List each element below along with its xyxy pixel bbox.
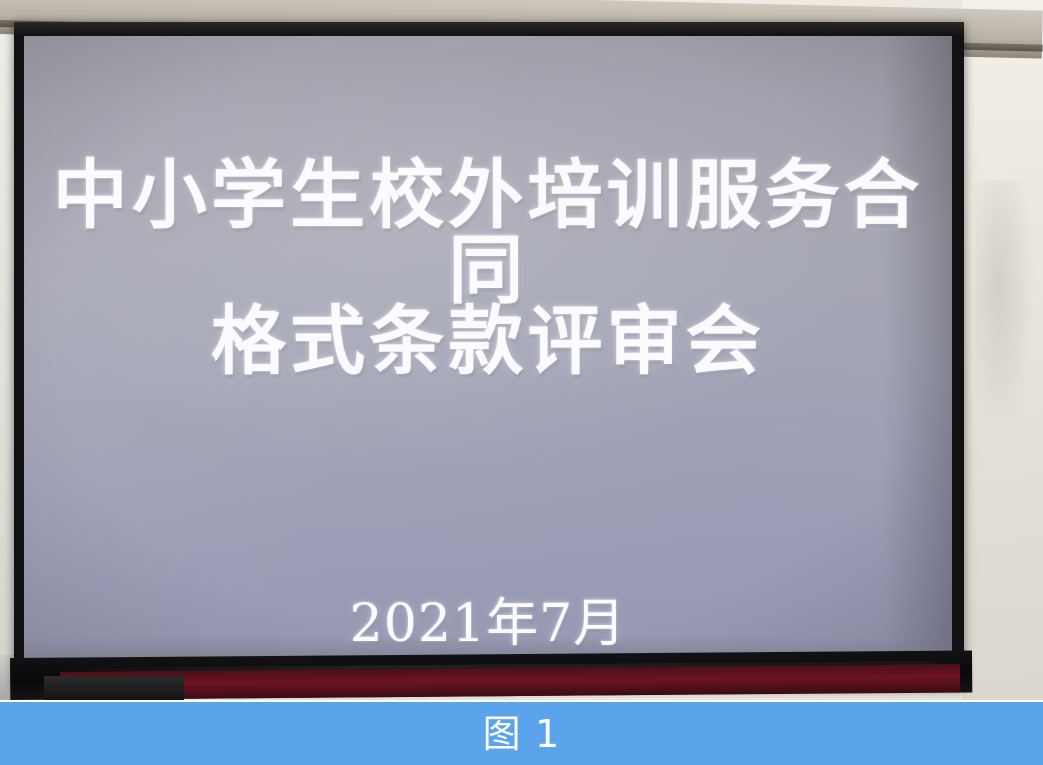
podium-shadow [44,676,184,700]
slide-content: 中小学生校外培训服务合同 格式条款评审会 2021年7月 [24,36,952,658]
slide-date: 2021年7月 [24,581,952,656]
figure-caption-bar: 图 1 [0,700,1043,765]
slide-title-line-2: 格式条款评审会 [24,304,952,379]
projection-screen-frame: 中小学生校外培训服务合同 格式条款评审会 2021年7月 [14,22,964,688]
slide-title-line-1: 中小学生校外培训服务合同 [24,158,952,308]
figure-caption-label: 图 1 [483,715,561,753]
wall-shadow [975,180,1035,440]
projection-screen-surface: 中小学生校外培训服务合同 格式条款评审会 2021年7月 [24,36,952,658]
figure-photo: 中小学生校外培训服务合同 格式条款评审会 2021年7月 图 1 [0,0,1043,765]
